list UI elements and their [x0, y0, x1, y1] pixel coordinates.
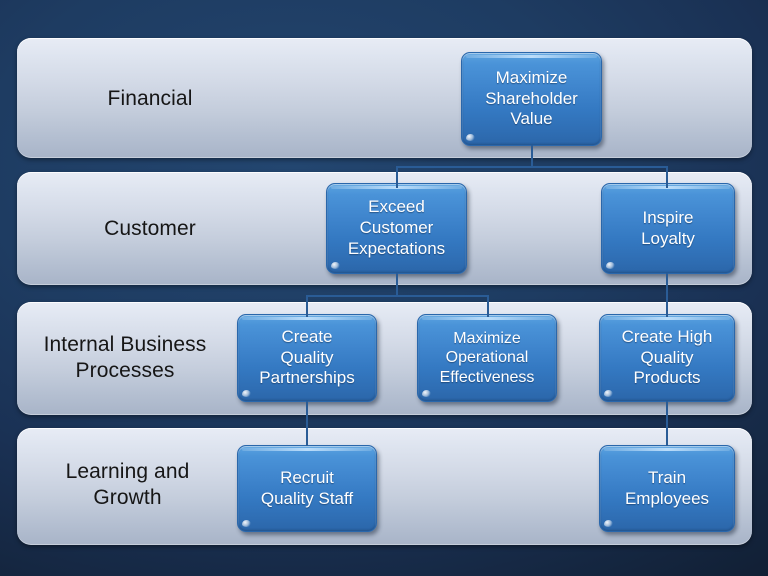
connector-customer-to-internal-bus — [306, 295, 489, 297]
objective-label-maximize-shareholder-value: Maximize Shareholder Value — [480, 68, 583, 130]
objective-create-high-quality-products[interactable]: Create High Quality Products — [599, 314, 735, 402]
strategy-map-canvas: Financial Customer Internal Business Pro… — [0, 0, 768, 576]
objective-exceed-customer-expectations[interactable]: Exceed Customer Expectations — [326, 183, 467, 274]
objective-label-create-quality-partnerships: Create Quality Partnerships — [254, 327, 359, 389]
objective-inspire-loyalty[interactable]: Inspire Loyalty — [601, 183, 735, 274]
connector-exceed-customer-expectations-stem — [396, 273, 398, 296]
objective-maximize-operational-effectiveness[interactable]: Maximize Operational Effectiveness — [417, 314, 557, 402]
objective-label-create-high-quality-products: Create High Quality Products — [617, 327, 718, 389]
connector-to-maximize-operational-effectiveness — [487, 295, 489, 317]
objective-create-quality-partnerships[interactable]: Create Quality Partnerships — [237, 314, 377, 402]
connector-create-quality-partnerships-to-recruit-quality-staff — [306, 401, 308, 446]
objective-label-exceed-customer-expectations: Exceed Customer Expectations — [343, 197, 450, 259]
connector-financial-to-customer-bus — [396, 166, 668, 168]
connector-to-exceed-customer-expectations — [396, 166, 398, 188]
perspective-label-customer: Customer — [40, 216, 260, 242]
objective-train-employees[interactable]: Train Employees — [599, 445, 735, 532]
connector-to-inspire-loyalty — [666, 166, 668, 188]
connector-inspire-loyalty-to-create-high-quality-products — [666, 273, 668, 317]
objective-label-maximize-operational-effectiveness: Maximize Operational Effectiveness — [435, 329, 540, 388]
connector-maximize-shareholder-value-stem — [531, 145, 533, 167]
objective-label-train-employees: Train Employees — [620, 468, 714, 509]
objective-maximize-shareholder-value[interactable]: Maximize Shareholder Value — [461, 52, 602, 146]
perspective-label-financial: Financial — [40, 86, 260, 112]
perspective-label-learning-and-growth: Learning and Growth — [25, 459, 230, 512]
objective-recruit-quality-staff[interactable]: Recruit Quality Staff — [237, 445, 377, 532]
objective-label-recruit-quality-staff: Recruit Quality Staff — [256, 468, 358, 509]
connector-create-high-quality-products-to-train-employees — [666, 401, 668, 446]
connector-to-create-quality-partnerships — [306, 295, 308, 317]
objective-label-inspire-loyalty: Inspire Loyalty — [636, 208, 700, 249]
perspective-label-internal-business-processes: Internal Business Processes — [20, 332, 230, 385]
